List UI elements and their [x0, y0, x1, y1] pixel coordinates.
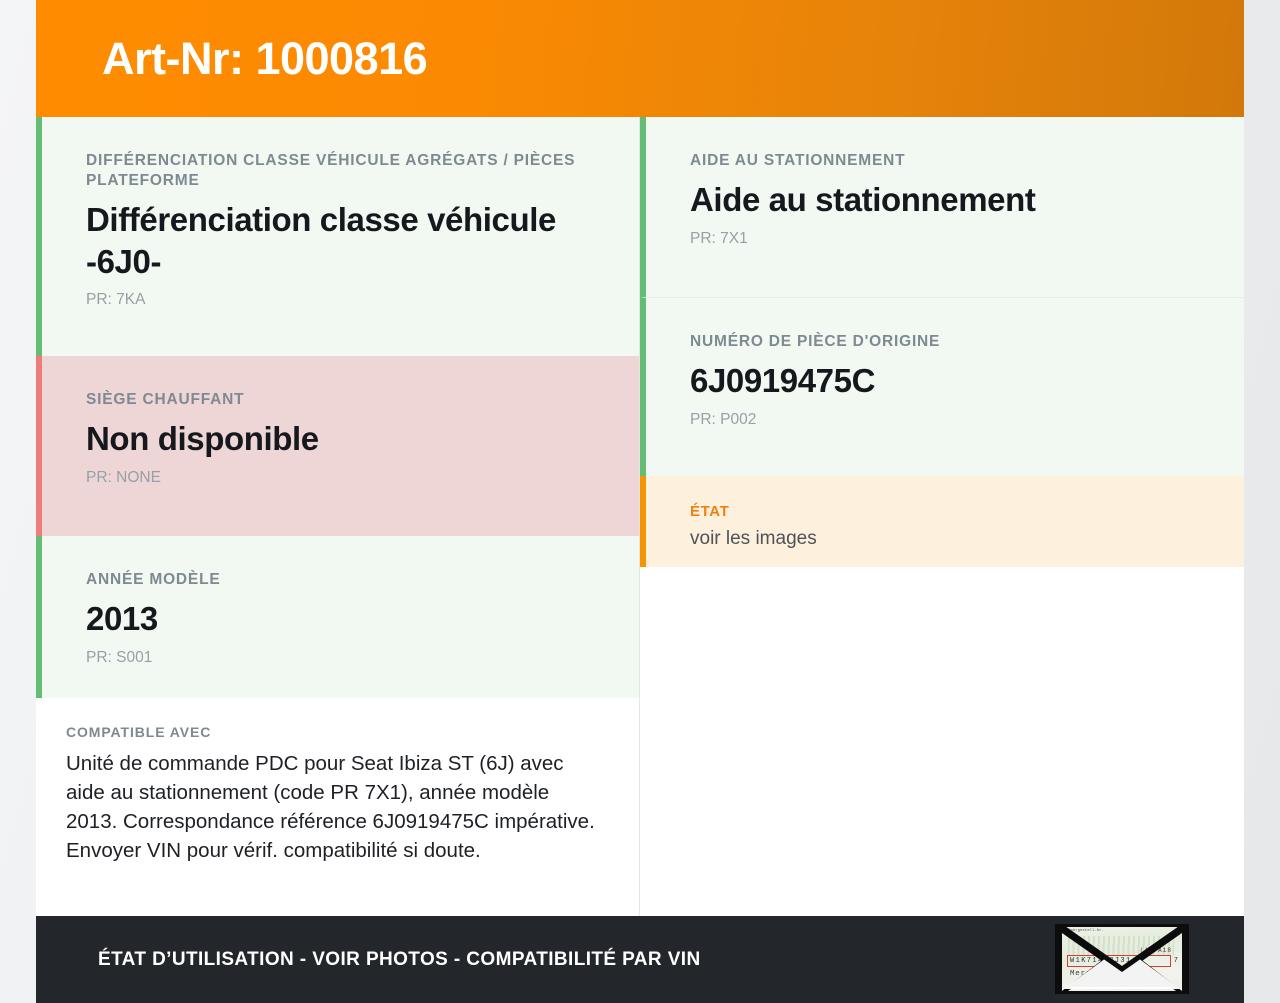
spec-card-value: Non disponible: [86, 418, 593, 460]
spec-card-label: Aide au stationnement: [690, 151, 1198, 171]
compatibility-section: Compatible avec Unité de commande PDC po…: [36, 698, 639, 916]
footer-notice: État d’utilisation - voir photos - compa…: [36, 949, 701, 971]
spec-card-pr-code: PR: NONE: [86, 470, 593, 486]
spec-card-pr-code: PR: S001: [86, 650, 593, 666]
spec-card-condition[interactable]: État voir les images: [640, 476, 1244, 567]
product-spec-sheet: Art-Nr: 1000816 Différenciation classe v…: [36, 0, 1244, 1003]
spec-card-label: Siège chauffant: [86, 390, 593, 410]
spec-card-parking-aid[interactable]: Aide au stationnement Aide au stationnem…: [640, 117, 1244, 298]
spec-card-value: voir les images: [690, 527, 1198, 551]
spec-card-pr-code: PR: 7X1: [690, 231, 1198, 247]
spec-columns: Différenciation classe véhicule Agrégats…: [36, 117, 1244, 916]
document-thumbnail[interactable]: Fahrgestell-Nr. (4) A18 W1K71463J31 7 Me…: [1055, 924, 1189, 994]
spec-card-label: Différenciation classe véhicule Agrégats…: [86, 151, 593, 191]
spec-card-label: État: [690, 502, 1198, 522]
spec-card-value: 6J0919475C: [690, 360, 1198, 402]
right-column: Aide au stationnement Aide au stationnem…: [639, 117, 1244, 916]
envelope-icon: [1062, 927, 1182, 991]
footer-bar: État d’utilisation - voir photos - compa…: [36, 916, 1244, 1003]
page-title: Art-Nr: 1000816: [36, 36, 427, 81]
right-column-filler: [640, 567, 1244, 916]
spec-card-value: Différenciation classe véhicule -6J0-: [86, 199, 593, 282]
compatibility-text: Unité de commande PDC pour Seat Ibiza ST…: [66, 749, 595, 865]
spec-card-oem-part-number[interactable]: Numéro de pièce d'origine 6J0919475C PR:…: [640, 298, 1244, 476]
header-bar: Art-Nr: 1000816: [36, 0, 1244, 117]
spec-card-value: 2013: [86, 598, 593, 640]
left-column: Différenciation classe véhicule Agrégats…: [36, 117, 639, 916]
spec-card-pr-code: PR: 7KA: [86, 292, 593, 308]
spec-card-model-year[interactable]: Année modèle 2013 PR: S001: [36, 536, 639, 698]
spec-card-label: Année modèle: [86, 570, 593, 590]
spec-card-value: Aide au stationnement: [690, 179, 1198, 221]
spec-card-heated-seat[interactable]: Siège chauffant Non disponible PR: NONE: [36, 356, 639, 536]
spec-card-pr-code: PR: P002: [690, 412, 1198, 428]
spec-card-vehicle-class[interactable]: Différenciation classe véhicule Agrégats…: [36, 117, 639, 356]
compatibility-label: Compatible avec: [66, 724, 595, 740]
spec-card-label: Numéro de pièce d'origine: [690, 332, 1198, 352]
